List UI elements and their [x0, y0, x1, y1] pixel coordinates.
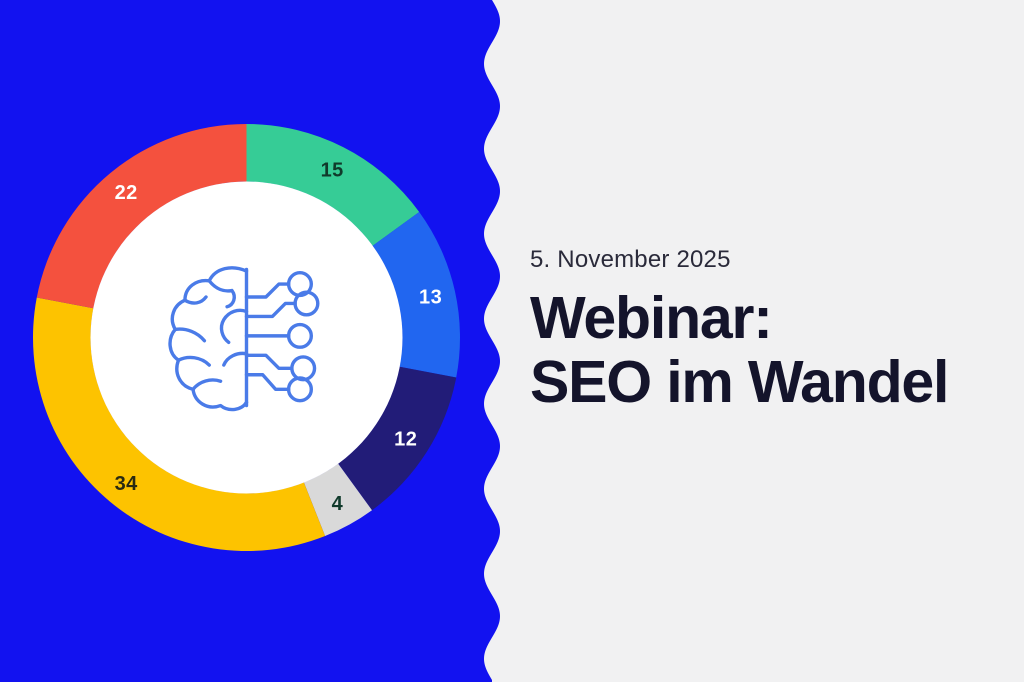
donut-slice-label-13: 13: [419, 286, 442, 308]
donut-slice-label-4: 4: [332, 493, 344, 515]
donut-slice-label-34: 34: [115, 473, 139, 495]
left-blue-panel: 15131243422: [0, 0, 520, 682]
promo-text-block: 5. November 2025 Webinar: SEO im Wandel: [530, 247, 1020, 415]
page-title: Webinar: SEO im Wandel: [530, 287, 1020, 414]
donut-slice-label-15: 15: [321, 159, 344, 181]
right-content-panel: 5. November 2025 Webinar: SEO im Wandel: [520, 0, 1024, 682]
donut-slice-label-22: 22: [115, 182, 138, 204]
donut-chart: 15131243422: [33, 124, 460, 551]
donut-slice-label-12: 12: [394, 429, 417, 451]
event-date: 5. November 2025: [530, 247, 1020, 273]
promo-banner: 15131243422: [0, 0, 1024, 682]
donut-chart-svg: 15131243422: [33, 124, 460, 551]
